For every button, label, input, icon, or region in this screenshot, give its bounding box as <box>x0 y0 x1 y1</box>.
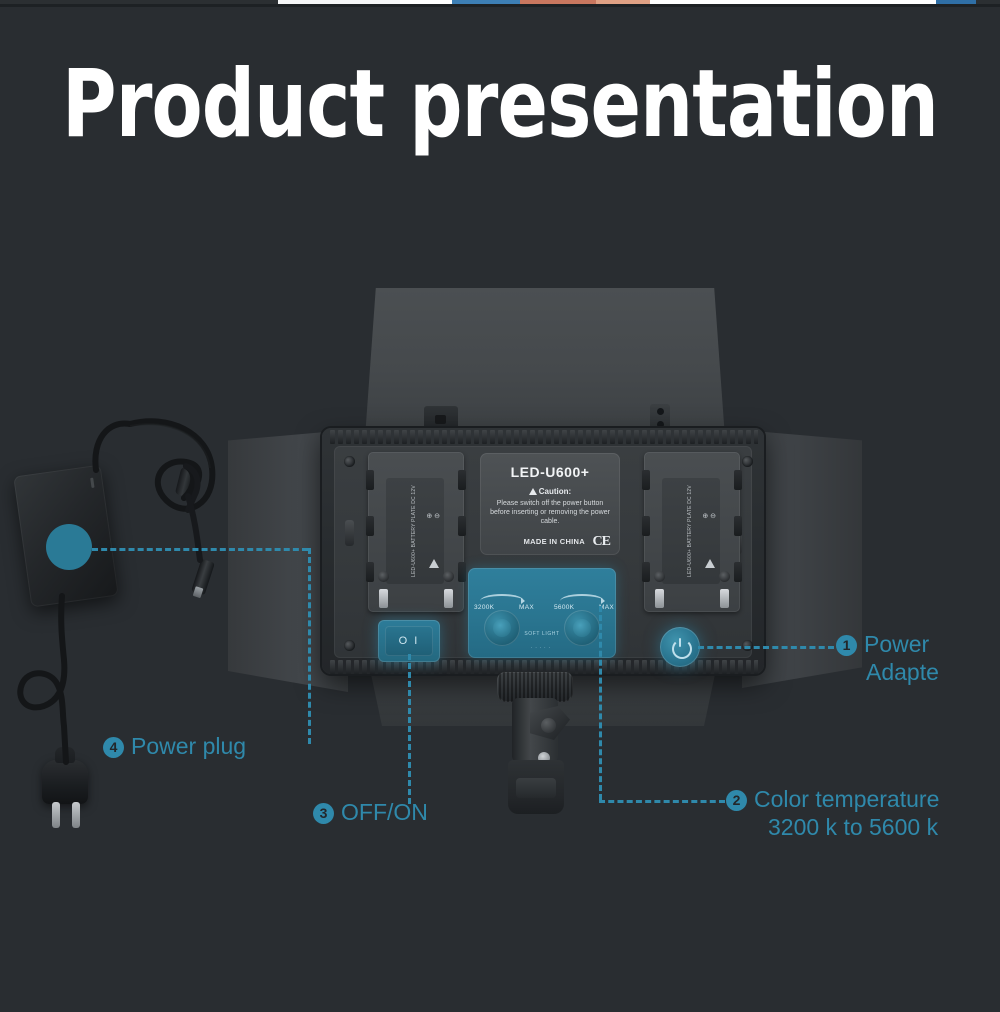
dimmer-knob-5600k[interactable] <box>564 610 600 646</box>
side-latch-left <box>345 520 354 546</box>
callout-label: Color temperature <box>754 785 939 813</box>
callout-number-4: 4 <box>103 737 124 758</box>
caution-body: Please switch off the power button befor… <box>488 499 612 526</box>
callout-label-line2: 3200 k to 5600 k <box>768 813 939 841</box>
leader-line-adapter-h <box>92 548 308 551</box>
callout-power-adapter[interactable]: 1Power Adapte <box>836 630 939 686</box>
battery-plate-right: LED-U600+ BATTERY PLATE DC 12V ⊕ ⊖ <box>644 452 740 612</box>
leader-line-power-button <box>698 646 834 649</box>
warning-triangle-icon <box>429 559 439 568</box>
barndoor-top <box>365 288 725 438</box>
callout-number-3: 3 <box>313 803 334 824</box>
warning-triangle-icon <box>705 559 715 568</box>
callout-power-plug[interactable]: 4Power plug <box>103 732 246 760</box>
battery-plate-label: LED-U600+ BATTERY PLATE DC 12V ⊕ ⊖ <box>662 478 720 584</box>
mount-base <box>508 760 564 814</box>
battery-plate-label: LED-U600+ BATTERY PLATE DC 12V ⊕ ⊖ <box>386 478 444 584</box>
rocker-markings: O I <box>393 633 425 649</box>
product-spec-label: LED-U600+ Caution: Please switch off the… <box>480 453 620 555</box>
leader-line-adapter-v <box>308 548 311 744</box>
mount-pivot <box>541 718 556 733</box>
callout-label: Power plug <box>131 732 246 760</box>
plug-prong <box>52 802 60 828</box>
caution-heading: Caution: <box>480 487 620 496</box>
panel-brand-text: SOFT LIGHT <box>520 630 564 638</box>
heatsink-fins-top <box>330 430 758 444</box>
color-temperature-control-panel[interactable]: 3200KMAX 5600KMAX SOFT LIGHT ..... <box>468 568 616 658</box>
slide-canvas: Product presentation LED-U600+ BATTERY <box>0 0 1000 1012</box>
plug-prong <box>72 802 80 828</box>
leader-line-rocker-v <box>408 654 411 804</box>
callout-color-temperature[interactable]: 2Color temperature 3200 k to 5600 k <box>726 785 939 841</box>
model-name: LED-U600+ <box>480 464 620 480</box>
callout-label: Power <box>864 630 929 658</box>
screw-icon <box>344 456 355 467</box>
callout-off-on[interactable]: 3OFF/ON <box>313 798 428 826</box>
ce-mark-icon: CE <box>593 534 610 550</box>
product-photo: LED-U600+ BATTERY PLATE DC 12V ⊕ ⊖ LED-U… <box>0 0 1000 1012</box>
power-adapter-hotspot[interactable] <box>46 524 92 570</box>
leader-line-colortemp-v <box>599 606 602 800</box>
leader-line-colortemp-h <box>599 800 725 803</box>
callout-number-1: 1 <box>836 635 857 656</box>
callout-number-2: 2 <box>726 790 747 811</box>
dimmer-knob-3200k[interactable] <box>484 610 520 646</box>
callout-label: OFF/ON <box>341 798 428 826</box>
panel-dots: ..... <box>522 644 562 650</box>
battery-plate-left: LED-U600+ BATTERY PLATE DC 12V ⊕ ⊖ <box>368 452 464 612</box>
screw-icon <box>344 640 355 651</box>
warning-triangle-icon <box>529 488 537 495</box>
cable-ferrite-bead <box>175 467 195 498</box>
power-plug-head <box>42 760 88 804</box>
callout-label-line2: Adapte <box>866 658 939 686</box>
origin-text: MADE IN CHINA <box>490 537 585 546</box>
power-button[interactable] <box>660 627 700 667</box>
dc-barrel-connector <box>191 559 215 596</box>
screw-icon <box>742 456 753 467</box>
